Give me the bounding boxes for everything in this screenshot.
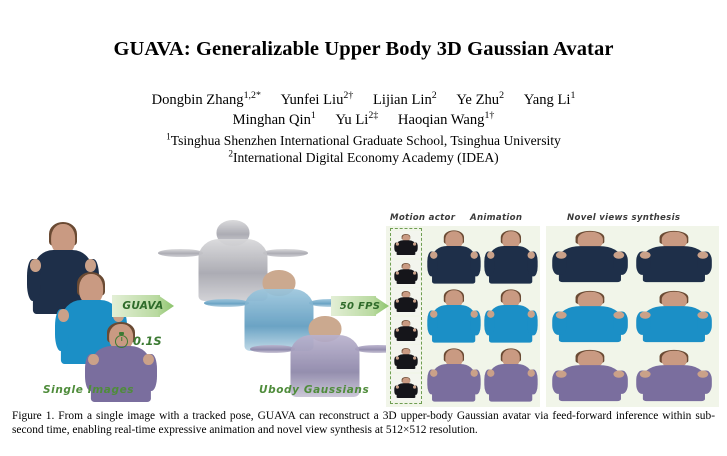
motion-actor-column	[390, 228, 422, 404]
fps-badge-label: 50 FPS	[340, 301, 381, 312]
panel-title-motion-actor: Motion actor	[390, 213, 455, 223]
inference-time-value: 0.1S	[133, 334, 162, 348]
affiliation: 1Tsinghua Shenzhen International Graduat…	[0, 133, 727, 150]
author-marks: 1†	[484, 110, 494, 121]
author-marks: 1	[570, 90, 575, 101]
author-marks: 1,2*	[244, 90, 261, 101]
author-marks: 2	[432, 90, 437, 101]
animation-cell	[426, 228, 482, 286]
novel-view-cell	[634, 288, 715, 345]
animation-cell	[483, 228, 539, 286]
author-row-1: Dongbin Zhang1,2* Yunfei Liu2† Lijian Li…	[0, 90, 727, 110]
results-panels: Motion actor Animation Novel views synth…	[386, 212, 719, 407]
author-row-2: Minghan Qin1 Yu Li2‡ Haoqian Wang1†	[0, 110, 727, 130]
label-single-images: Single Images	[43, 384, 134, 396]
novel-view-cell	[634, 228, 715, 285]
animation-cell	[483, 287, 539, 345]
panel-title-novel-views: Novel views synthesis	[567, 213, 680, 223]
motion-actor-frame	[392, 374, 420, 401]
author: Haoqian Wang1†	[398, 112, 494, 128]
author: Minghan Qin1	[233, 112, 316, 128]
novel-view-cell	[550, 228, 631, 285]
motion-actor-frame	[392, 317, 420, 344]
author-marks: 2‡	[368, 110, 378, 121]
guava-badge-label: GUAVA	[122, 300, 163, 312]
author: Dongbin Zhang1,2*	[152, 92, 261, 108]
motion-actor-frame	[392, 345, 420, 372]
motion-actor-frame	[392, 288, 420, 315]
author: Ye Zhu2	[456, 92, 504, 108]
novel-views-grid	[550, 228, 714, 404]
affiliation-list: 1Tsinghua Shenzhen International Graduat…	[0, 133, 727, 166]
figure-caption: Figure 1. From a single image with a tra…	[12, 410, 715, 437]
author: Yunfei Liu2†	[281, 92, 354, 108]
novel-view-cell	[634, 347, 715, 404]
paper-page: GUAVA: Generalizable Upper Body 3D Gauss…	[0, 0, 727, 456]
author-marks: 2†	[343, 90, 353, 101]
label-ubody-gaussians: Ubody Gaussians	[259, 384, 369, 396]
fps-arrow-badge: 50 FPS	[331, 296, 389, 316]
page-title: GUAVA: Generalizable Upper Body 3D Gauss…	[0, 38, 727, 61]
author-marks: 1	[311, 110, 316, 121]
guava-arrow-badge: GUAVA	[112, 295, 174, 317]
author: Yang Li1	[524, 92, 576, 108]
stopwatch-icon	[115, 335, 128, 348]
animation-cell	[426, 346, 482, 404]
novel-view-cell	[550, 347, 631, 404]
motion-actor-frame	[392, 260, 420, 287]
author-marks: 2	[499, 90, 504, 101]
author: Yu Li2‡	[336, 112, 379, 128]
animation-cell	[426, 287, 482, 345]
animation-cell	[483, 346, 539, 404]
novel-view-cell	[550, 288, 631, 345]
panel-title-animation: Animation	[470, 213, 522, 223]
inference-time-indicator: 0.1S	[115, 334, 162, 348]
author-list: Dongbin Zhang1,2* Yunfei Liu2† Lijian Li…	[0, 90, 727, 130]
author: Lijian Lin2	[373, 92, 437, 108]
motion-actor-frame	[392, 231, 420, 258]
affiliation: 2International Digital Economy Academy (…	[0, 150, 727, 167]
animation-grid	[426, 228, 538, 404]
